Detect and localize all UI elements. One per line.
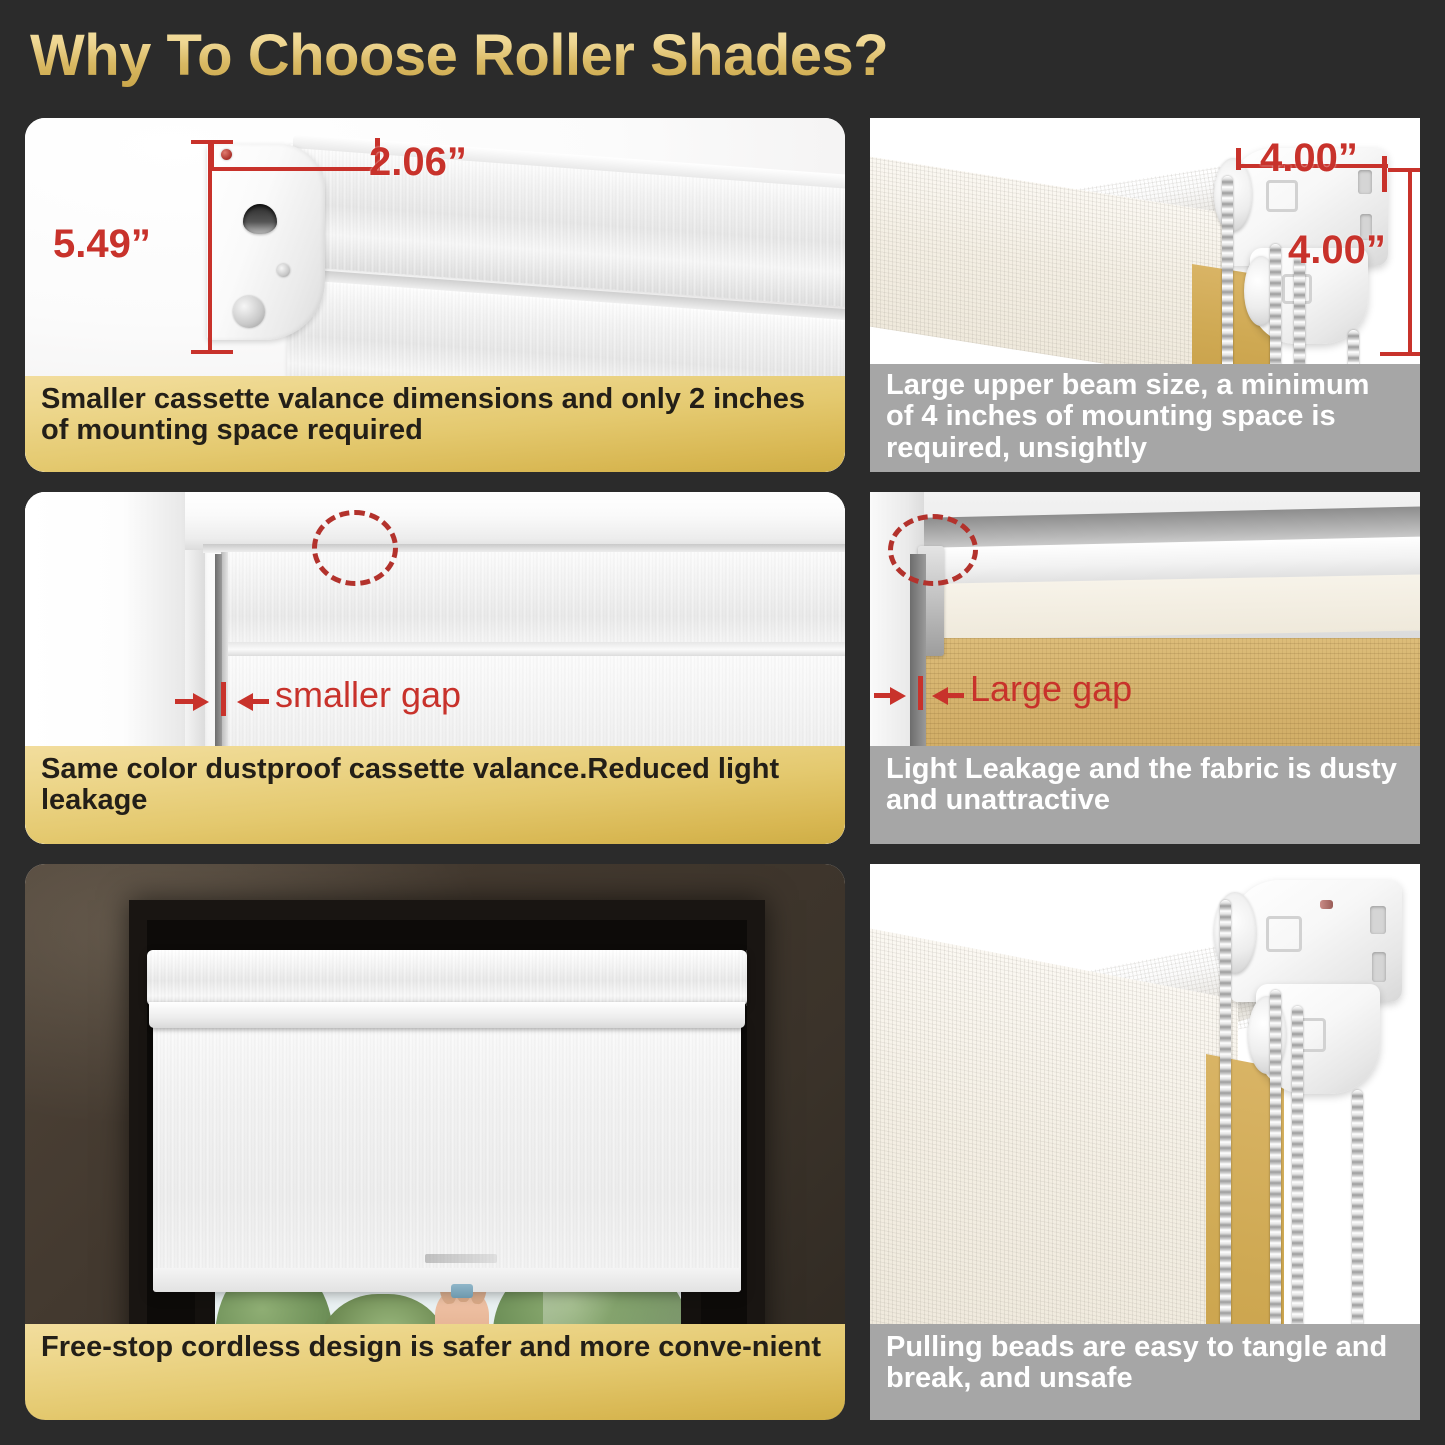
cassette-valance	[147, 950, 747, 1006]
valance-texture	[147, 950, 747, 1006]
gap-arrow-left-icon	[890, 687, 906, 705]
bracket-slot-upper-icon	[1358, 170, 1372, 194]
valance-lower-lip	[149, 1002, 745, 1028]
valance-bracket-knob-icon	[233, 296, 265, 328]
gap-label: smaller gap	[275, 674, 461, 716]
dim-height-rule	[1408, 170, 1412, 356]
panel-dustproof-cassette: smaller gap Same color dustproof cassett…	[25, 492, 845, 844]
dim-width-label: 4.00”	[1260, 136, 1358, 181]
panel-5-caption: Free-stop cordless design is safer and m…	[25, 1324, 845, 1420]
bracket-indicator-dot-icon	[1320, 900, 1333, 909]
panel-smaller-cassette: 2.06” 5.49” Smaller cassette valance dim…	[25, 118, 845, 472]
valance-end-cap	[207, 144, 325, 340]
dim-height-label: 4.00”	[1288, 228, 1386, 273]
panel-large-upper-beam: 4.00” 4.00” Large upper beam size, a min…	[870, 118, 1420, 472]
dim-width-label: 2.06”	[369, 140, 467, 185]
dim-height-tick-top	[1388, 168, 1420, 172]
page-title: Why To Choose Roller Shades?	[30, 22, 888, 89]
valance-divider	[225, 642, 845, 657]
dim-width-rule	[211, 167, 379, 171]
gap-highlight-ellipse	[888, 514, 978, 586]
gap-arrow-right-stem	[251, 699, 269, 704]
seam-highlight-ellipse	[312, 510, 398, 586]
dim-width-tick-right	[1382, 156, 1387, 192]
panel-light-leakage: Large gap Light Leakage and the fabric i…	[870, 492, 1420, 844]
dim-width-tick-left	[1236, 148, 1241, 170]
shade-fabric-cream	[922, 574, 1420, 640]
panel-6-caption: Pulling beads are easy to tangle and bre…	[870, 1324, 1420, 1420]
panel-3-caption: Same color dustproof cassette valance.Re…	[25, 746, 845, 844]
dim-height-tick-bottom	[191, 350, 233, 354]
shade-bottom-rail	[153, 1268, 741, 1292]
valance-cord-slot-icon	[243, 204, 277, 234]
valance-screw-upper-icon	[221, 149, 232, 160]
panel-1-caption: Smaller cassette valance dimensions and …	[25, 376, 845, 472]
gap-label: Large gap	[970, 668, 1132, 710]
shade-pull-tab	[451, 1284, 473, 1298]
dim-height-tick-bottom	[1380, 352, 1420, 356]
window-head-casing	[185, 492, 845, 550]
panel-2-caption: Large upper beam size, a minimum of 4 in…	[870, 364, 1420, 472]
bracket-slot-upper-icon	[1370, 906, 1386, 934]
bracket-slot-lower-icon	[1372, 952, 1386, 982]
dim-height-tick-top	[191, 140, 233, 144]
gap-measure-tick	[221, 682, 226, 716]
panel-cordless-design: Free-stop cordless design is safer and m…	[25, 864, 845, 1420]
panel-pulling-beads: Pulling beads are easy to tangle and bre…	[870, 864, 1420, 1420]
gap-arrow-left-icon	[193, 693, 209, 711]
gap-arrow-left-stem	[175, 699, 195, 704]
valance-screw-lower-icon	[277, 264, 290, 277]
gap-arrow-left-stem	[874, 693, 892, 698]
title-bar: Why To Choose Roller Shades?	[0, 0, 1445, 118]
shade-fabric-texture	[153, 1022, 741, 1290]
roller-shade-face	[153, 1022, 741, 1290]
bracket-arrow-icon	[1266, 916, 1302, 952]
shade-brand-mark	[425, 1254, 497, 1263]
roller-end-disc	[1214, 158, 1252, 232]
bracket-arrow-icon	[1266, 180, 1298, 212]
dim-height-label: 5.49”	[53, 222, 151, 267]
panel-4-caption: Light Leakage and the fabric is dusty an…	[870, 746, 1420, 844]
gap-measure-tick	[918, 676, 923, 710]
dim-height-rule	[208, 142, 212, 354]
gap-arrow-right-stem	[946, 693, 964, 698]
